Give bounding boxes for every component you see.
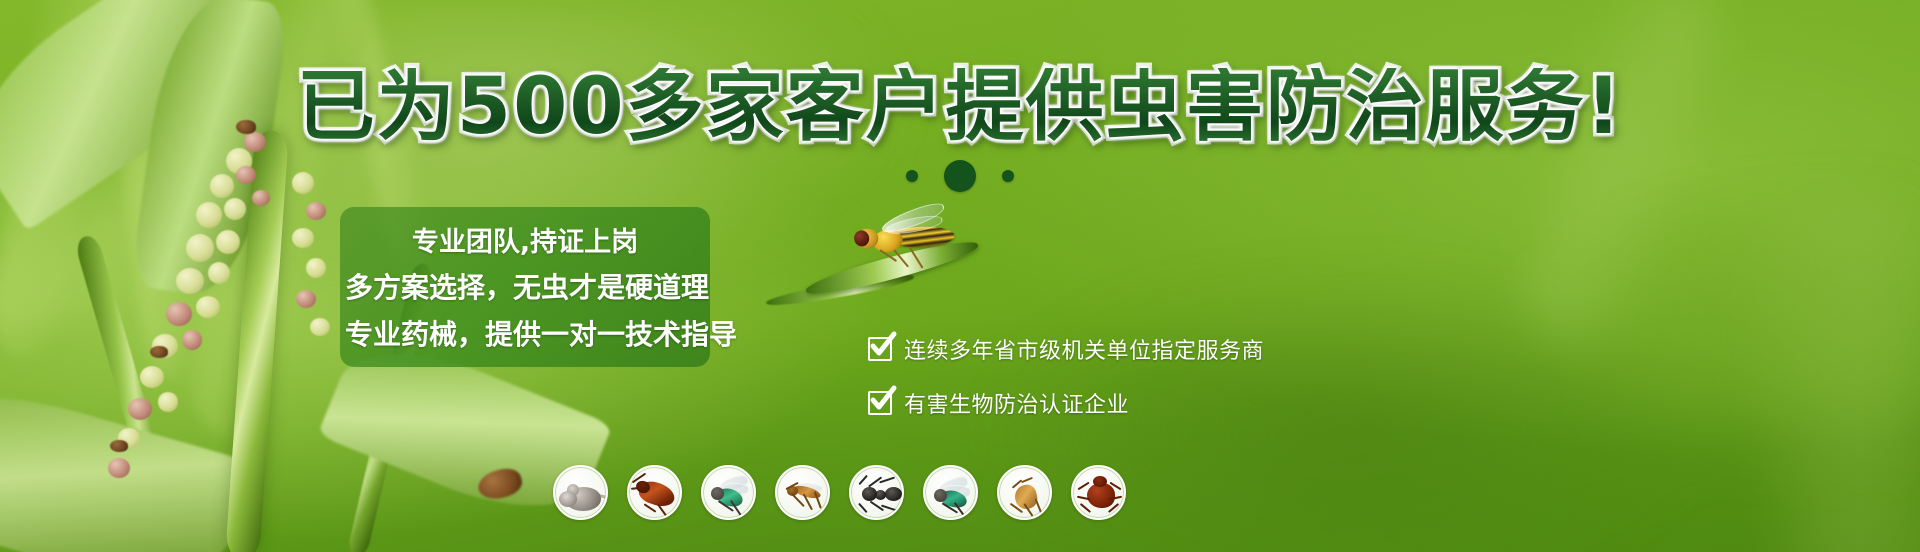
slogan-line-2: 多方案选择，无虫才是硬道理 bbox=[345, 266, 705, 306]
hoverfly-icon bbox=[850, 206, 967, 277]
blowfly-icon[interactable] bbox=[923, 465, 978, 520]
mosquito-icon[interactable] bbox=[775, 465, 830, 520]
mouse-icon[interactable] bbox=[553, 465, 608, 520]
slogan-line-3: 专业药械，提供一对一技术指导 bbox=[345, 313, 705, 353]
dot-small-right bbox=[1002, 170, 1014, 182]
hoverfly-illustration bbox=[815, 195, 1015, 315]
dot-large-center bbox=[944, 160, 976, 192]
checklist-item-2-label: 有害生物防治认证企业 bbox=[904, 387, 1129, 419]
ant-icon[interactable] bbox=[849, 465, 904, 520]
flea-icon[interactable] bbox=[997, 465, 1052, 520]
page-title: 已为500多家客户提供虫害防治服务! bbox=[0, 68, 1920, 146]
fly-icon[interactable] bbox=[701, 465, 756, 520]
slogan-panel: 专业团队,持证上岗 多方案选择，无虫才是硬道理 专业药械，提供一对一技术指导 bbox=[340, 207, 710, 367]
decorative-dots bbox=[0, 160, 1920, 192]
checkbox-checked-icon bbox=[868, 337, 892, 361]
cockroach-icon[interactable] bbox=[627, 465, 682, 520]
bedbug-icon[interactable] bbox=[1071, 465, 1126, 520]
slogan-line-1: 专业团队,持证上岗 bbox=[412, 220, 638, 259]
checklist: 连续多年省市级机关单位指定服务商 有害生物防治认证企业 bbox=[868, 333, 1264, 419]
checkbox-checked-icon bbox=[868, 391, 892, 415]
checklist-item-2: 有害生物防治认证企业 bbox=[868, 387, 1264, 419]
pest-control-banner: 已为500多家客户提供虫害防治服务! 已为500多家客户提供虫害防治服务! 专业… bbox=[0, 0, 1920, 552]
pest-icon-row bbox=[553, 465, 1126, 520]
dot-small-left bbox=[906, 170, 918, 182]
checklist-item-1: 连续多年省市级机关单位指定服务商 bbox=[868, 333, 1264, 365]
checklist-item-1-label: 连续多年省市级机关单位指定服务商 bbox=[904, 333, 1264, 365]
